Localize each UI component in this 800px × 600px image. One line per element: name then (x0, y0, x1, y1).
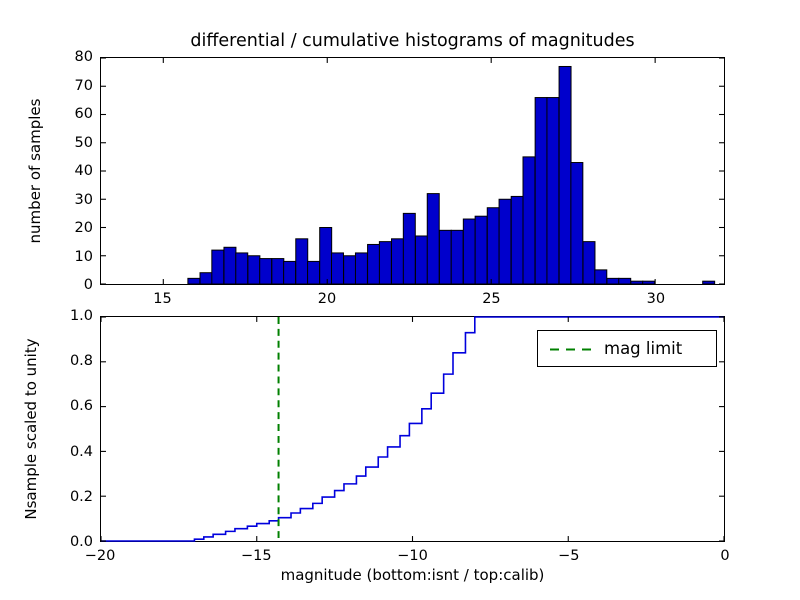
x-tick-label: −20 (85, 548, 116, 564)
histogram-bar (619, 278, 631, 284)
y-tick-label: 0.2 (70, 489, 93, 505)
histogram-bar (595, 270, 607, 284)
histogram-bar (487, 208, 499, 284)
y-tick-label: 0.8 (70, 353, 93, 369)
histogram-bar (451, 230, 463, 284)
histogram-bar (403, 213, 415, 284)
y-tick-label: 60 (75, 106, 93, 122)
histogram-bar (236, 253, 248, 284)
y-tick-label: 30 (75, 192, 93, 208)
x-tick-label: 30 (647, 291, 665, 307)
histogram-bar (703, 281, 715, 284)
histogram-bar (511, 196, 523, 284)
x-tick-label: 20 (318, 291, 336, 307)
histogram-bar (463, 219, 475, 284)
x-tick-label: −15 (241, 548, 272, 564)
y-tick-label: 20 (75, 220, 93, 236)
legend-label-mag-limit: mag limit (604, 339, 682, 358)
histogram-bar (344, 256, 356, 284)
histogram-bar (260, 259, 272, 284)
histogram-bar (415, 236, 427, 284)
histogram-bar (535, 98, 547, 284)
histogram-bar (284, 261, 296, 284)
differential-histogram-plot (101, 58, 724, 284)
histogram-bar (320, 228, 332, 285)
histogram-bar (631, 281, 643, 284)
histogram-bar (332, 253, 344, 284)
histogram-bar (212, 250, 224, 284)
x-tick-label: 25 (482, 291, 500, 307)
y-tick-label: 0 (84, 277, 93, 293)
bottom-axis-x-label: magnitude (bottom:isnt / top:calib) (100, 566, 725, 584)
figure-canvas: differential / cumulative histograms of … (0, 0, 800, 600)
figure-title: differential / cumulative histograms of … (100, 31, 725, 51)
y-tick-label: 0.6 (70, 398, 93, 414)
differential-histogram-axes (100, 57, 725, 285)
y-tick-label: 40 (75, 163, 93, 179)
histogram-bar (475, 216, 487, 284)
histogram-bar (188, 278, 200, 284)
top-axis-y-label: number of samples (26, 57, 44, 285)
histogram-bar (355, 253, 367, 284)
histogram-bar (439, 230, 451, 284)
histogram-bar (571, 163, 583, 284)
histogram-bar (272, 259, 284, 284)
histogram-bar (379, 242, 391, 284)
x-tick-label: −10 (397, 548, 428, 564)
histogram-bar (392, 239, 404, 284)
y-tick-label: 70 (75, 78, 93, 94)
y-tick-label: 10 (75, 249, 93, 265)
histogram-bar (559, 66, 571, 284)
histogram-bar (643, 281, 655, 284)
x-tick-label: 15 (153, 291, 171, 307)
y-tick-label: 1.0 (70, 308, 93, 324)
x-tick-label: −5 (558, 548, 579, 564)
histogram-bar (607, 278, 619, 284)
legend: mag limit (537, 330, 717, 367)
y-tick-label: 0.4 (70, 444, 93, 460)
x-tick-label: 0 (720, 548, 729, 564)
histogram-bar (308, 261, 320, 284)
histogram-bar (547, 98, 559, 284)
y-tick-label: 50 (75, 135, 93, 151)
y-tick-label: 80 (75, 49, 93, 65)
histogram-bar (523, 157, 535, 284)
histogram-bar (499, 199, 511, 284)
bottom-axis-y-label: Nsample scaled to unity (22, 316, 40, 542)
histogram-bar (224, 247, 236, 284)
histogram-bar (427, 194, 439, 284)
legend-dashed-line-icon (548, 331, 600, 368)
histogram-bar (248, 256, 260, 284)
histogram-bar (368, 244, 380, 284)
histogram-bar (200, 273, 212, 284)
histogram-bar (583, 242, 595, 284)
histogram-bar (296, 239, 308, 284)
